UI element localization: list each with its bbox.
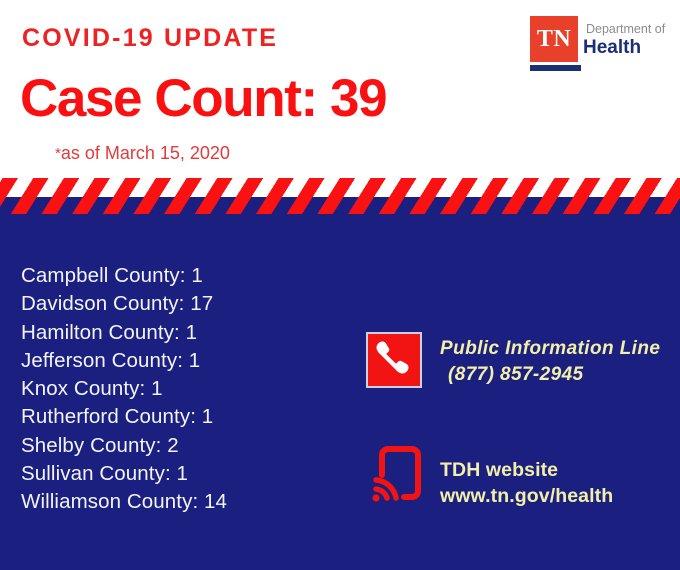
list-item: Shelby County: 2 bbox=[21, 432, 351, 460]
as-of-date: *as of March 15, 2020 bbox=[55, 143, 230, 164]
list-item: Knox County: 1 bbox=[21, 375, 351, 403]
covid-update-poster: COVID-19 UPDATE Case Count: 39 *as of Ma… bbox=[0, 0, 680, 570]
list-item: Jefferson County: 1 bbox=[21, 347, 351, 375]
list-item: Williamson County: 14 bbox=[21, 488, 351, 516]
tdh-website-text: TDH website www.tn.gov/health bbox=[440, 457, 670, 509]
striped-divider-band bbox=[0, 178, 680, 215]
mobile-wifi-icon bbox=[368, 440, 428, 506]
telephone-icon bbox=[366, 332, 422, 388]
list-item: Campbell County: 1 bbox=[21, 262, 351, 290]
county-case-list: Campbell County: 1 Davidson County: 17 H… bbox=[21, 262, 351, 517]
poster-body: Campbell County: 1 Davidson County: 17 H… bbox=[0, 214, 680, 570]
public-information-line-title: Public Information Line bbox=[440, 336, 670, 362]
list-item: Sullivan County: 1 bbox=[21, 460, 351, 488]
list-item: Davidson County: 17 bbox=[21, 290, 351, 318]
tn-department-of-health-logo: TN Department of Health bbox=[530, 16, 670, 78]
poster-header: COVID-19 UPDATE Case Count: 39 *as of Ma… bbox=[0, 0, 680, 179]
tdh-website-title: TDH website bbox=[440, 457, 670, 483]
page-title: Case Count: 39 bbox=[20, 68, 386, 129]
tdh-website-url: www.tn.gov/health bbox=[440, 483, 670, 509]
logo-department-label: Department of bbox=[586, 22, 670, 37]
tn-logo-mark-text: TN bbox=[537, 27, 571, 51]
list-item: Rutherford County: 1 bbox=[21, 403, 351, 431]
logo-health-label: Health bbox=[583, 37, 670, 59]
public-information-line-text: Public Information Line (877) 857-2945 bbox=[440, 336, 670, 388]
public-information-line-block: Public Information Line (877) 857-2945 bbox=[366, 332, 666, 404]
tn-logo-wordmark: Department of Health bbox=[586, 22, 670, 59]
as-of-date-text: as of March 15, 2020 bbox=[61, 143, 230, 163]
tn-logo-underbar bbox=[530, 64, 581, 71]
public-information-phone-number: (877) 857-2945 bbox=[448, 362, 670, 388]
band-red-diagonal-stripes bbox=[0, 178, 680, 215]
tdh-website-block: TDH website www.tn.gov/health bbox=[366, 440, 666, 512]
kicker-text: COVID-19 UPDATE bbox=[22, 24, 278, 53]
tn-logo-mark: TN bbox=[530, 16, 578, 62]
list-item: Hamilton County: 1 bbox=[21, 319, 351, 347]
